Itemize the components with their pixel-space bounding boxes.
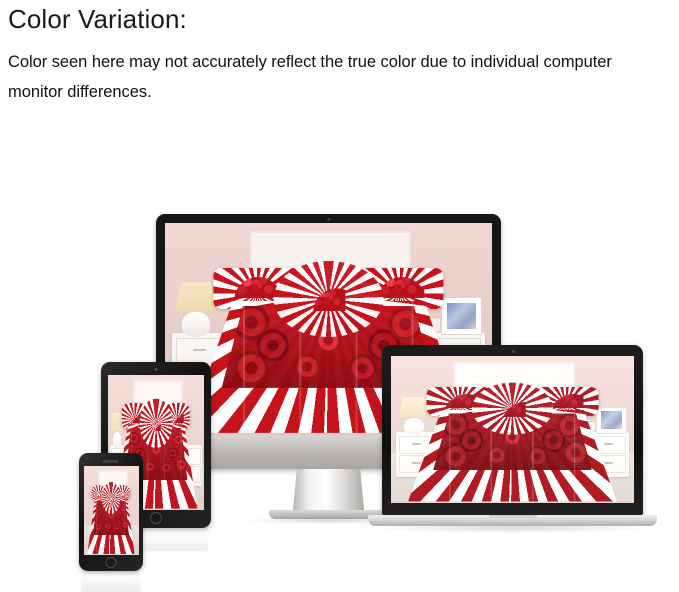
- smartphone-mockup: [79, 453, 143, 571]
- rose-heart-icon: [119, 488, 127, 498]
- rose-heart-icon: [170, 408, 184, 423]
- camera-icon: [327, 218, 331, 222]
- center-heart-medallion: [495, 397, 531, 420]
- laptop-mockup: [368, 345, 657, 533]
- center-heart-medallion: [305, 282, 353, 315]
- home-button-icon[interactable]: [106, 557, 117, 568]
- camera-icon: [155, 368, 158, 371]
- text-block: Color Variation: Color seen here may not…: [8, 0, 674, 107]
- home-button-icon[interactable]: [150, 512, 162, 524]
- camera-icon: [512, 350, 515, 353]
- laptop-shadow: [380, 526, 645, 533]
- camera-icon: [103, 460, 106, 463]
- center-heart-medallion: [149, 413, 163, 434]
- device-mockup-group: [0, 188, 679, 589]
- bed: [408, 387, 617, 502]
- phone-reflection: [81, 572, 141, 592]
- page-title: Color Variation:: [8, 0, 674, 36]
- color-disclaimer-text: Color seen here may not accurately refle…: [8, 36, 670, 107]
- laptop-notch: [489, 515, 537, 520]
- bed: [87, 485, 134, 554]
- center-heart-medallion: [107, 491, 115, 505]
- monitor-stand-neck: [293, 469, 365, 515]
- laptop-screen: [391, 356, 634, 503]
- product-image-laptop: [391, 356, 634, 503]
- product-image-phone: [84, 466, 139, 555]
- phone-screen: [84, 466, 139, 555]
